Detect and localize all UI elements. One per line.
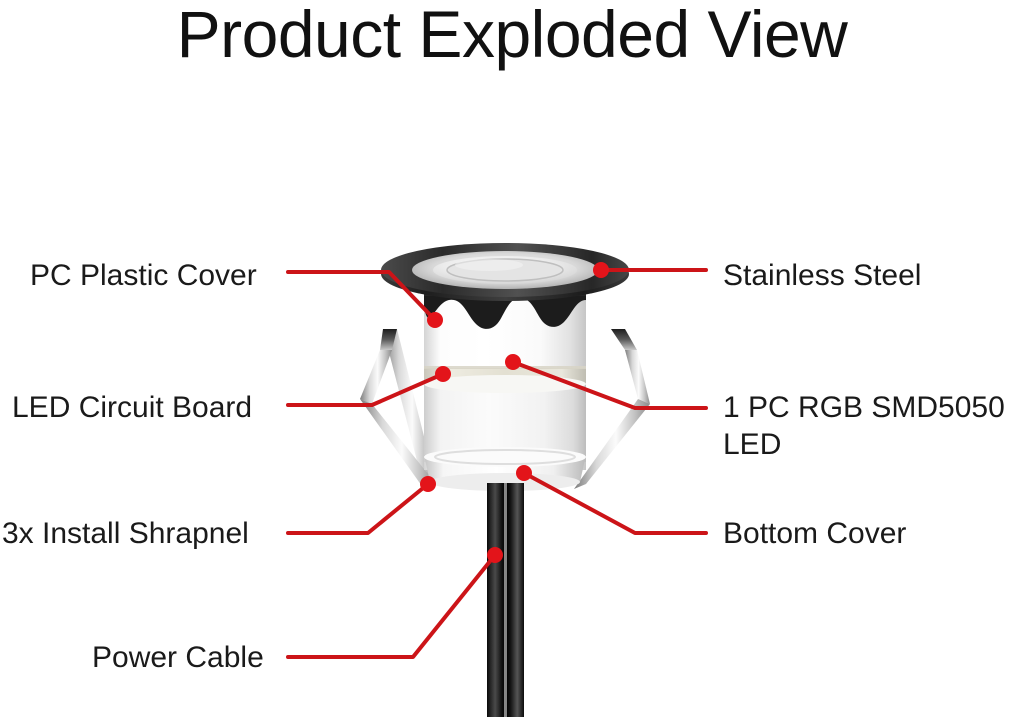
product-exploded-view-diagram: Product Exploded View	[0, 0, 1024, 717]
callout-label-rgb-smd5050-led: 1 PC RGB SMD5050 LED	[723, 390, 1005, 463]
stainless-steel-flange	[381, 243, 629, 301]
callout-label-pc-plastic-cover: PC Plastic Cover	[30, 258, 257, 295]
callout-label-led-circuit-board: LED Circuit Board	[12, 390, 252, 427]
product-illustration	[0, 0, 1024, 717]
power-cable	[487, 483, 524, 717]
callout-label-stainless-steel: Stainless Steel	[723, 258, 921, 295]
callout-label-install-shrapnel: 3x Install Shrapnel	[2, 516, 249, 553]
callout-label-power-cable: Power Cable	[92, 640, 264, 677]
callout-label-bottom-cover: Bottom Cover	[723, 516, 906, 553]
